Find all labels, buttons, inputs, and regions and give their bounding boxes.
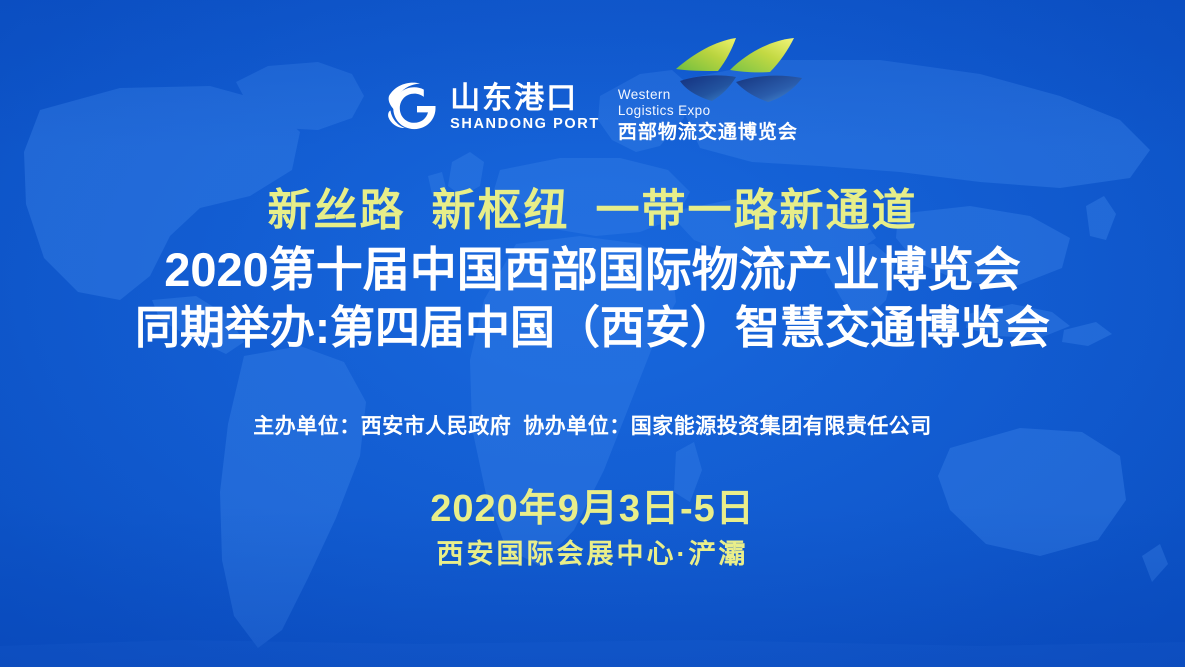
event-title-main: 2020第十届中国西部国际物流产业博览会 [0, 242, 1185, 298]
shandong-port-name-en: SHANDONG PORT [450, 116, 600, 133]
event-slogan: 新丝路新枢纽一带一路新通道 [0, 186, 1185, 236]
event-venue: 西安国际会展中心·浐灞 [0, 538, 1185, 570]
wl-expo-name-en-line1: Western [618, 87, 798, 103]
expo-banner-poster: 山东港口 SHANDONG PORT [0, 0, 1185, 667]
event-date: 2020年9月3日-5日 [0, 487, 1185, 532]
western-logistics-expo-logo: Western Logistics Expo 西部物流交通博览会 [618, 71, 798, 145]
wl-expo-name-en-line2: Logistics Expo [618, 103, 798, 119]
organisers-line: 主办单位：西安市人民政府协办单位：国家能源投资集团有限责任公司 [0, 410, 1185, 440]
shandong-port-logo: 山东港口 SHANDONG PORT [387, 80, 600, 136]
headline-block: 新丝路新枢纽一带一路新通道 2020第十届中国西部国际物流产业博览会 同期举办:… [0, 186, 1185, 355]
slogan-part-2: 新枢纽 [432, 186, 570, 235]
shandong-port-g-icon [387, 80, 441, 136]
date-venue-block: 2020年9月3日-5日 西安国际会展中心·浐灞 [0, 487, 1185, 570]
logo-row: 山东港口 SHANDONG PORT [0, 62, 1185, 154]
cohost-organiser: 协办单位：国家能源投资集团有限责任公司 [523, 415, 932, 438]
shandong-port-name-cn: 山东港口 [450, 83, 600, 114]
wl-expo-name-cn: 西部物流交通博览会 [618, 122, 798, 145]
slogan-part-3: 一带一路新通道 [596, 186, 918, 235]
host-organiser: 主办单位：西安市人民政府 [253, 415, 511, 438]
event-title-sub: 同期举办:第四届中国（西安）智慧交通博览会 [0, 301, 1185, 355]
shandong-port-wordmark: 山东港口 SHANDONG PORT [450, 83, 600, 133]
slogan-part-1: 新丝路 [268, 186, 406, 235]
